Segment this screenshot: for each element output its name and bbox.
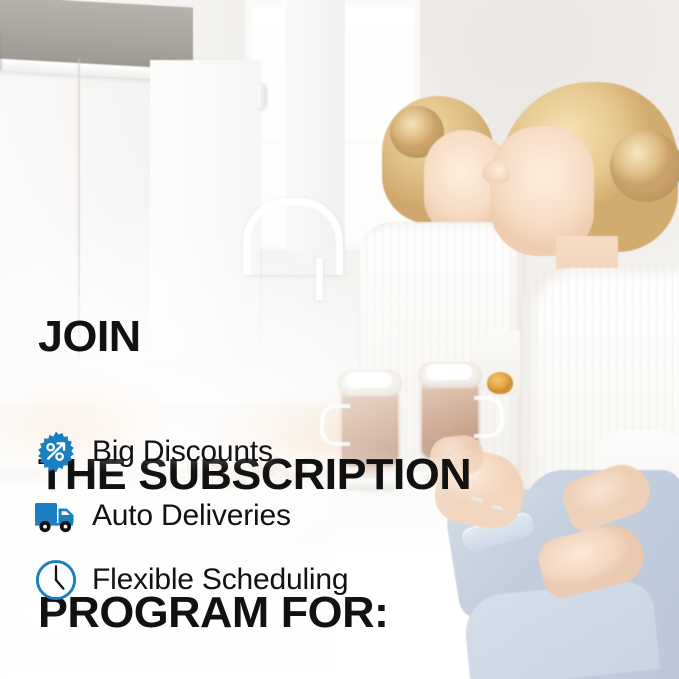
headline-line-1: JOIN	[38, 314, 471, 360]
feature-auto-deliveries: Auto Deliveries	[34, 494, 348, 538]
feature-flexible-scheduling: Flexible Scheduling	[34, 558, 348, 602]
discount-badge-icon	[34, 430, 78, 474]
feature-list: Big Discounts Auto Deliveries	[34, 430, 348, 602]
clock-icon	[34, 558, 78, 602]
delivery-truck-icon	[34, 494, 78, 538]
subscription-program-ad: JOIN THE SUBSCRIPTION PROGRAM FOR: Big D…	[0, 0, 679, 679]
feature-label: Auto Deliveries	[92, 499, 291, 533]
feature-label: Flexible Scheduling	[92, 563, 348, 597]
ad-content: JOIN THE SUBSCRIPTION PROGRAM FOR: Big D…	[0, 0, 679, 679]
feature-big-discounts: Big Discounts	[34, 430, 348, 474]
feature-label: Big Discounts	[92, 435, 273, 469]
